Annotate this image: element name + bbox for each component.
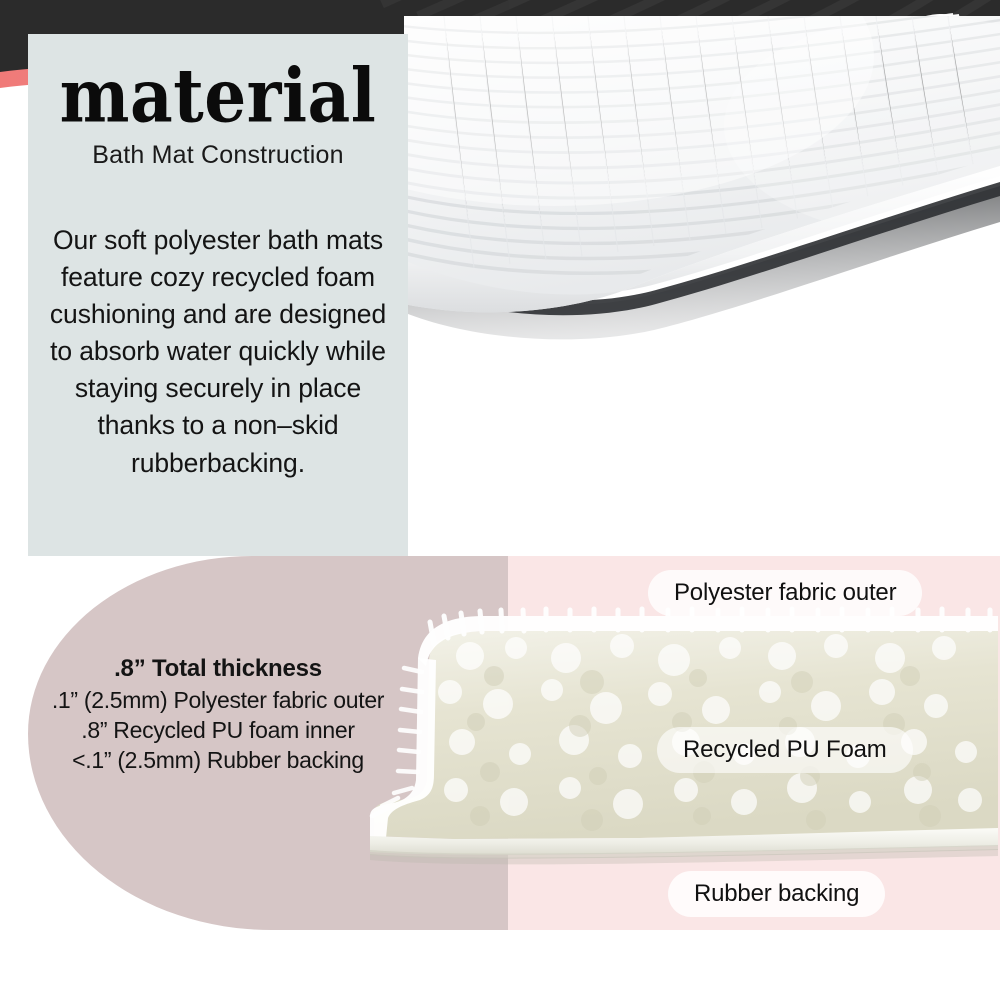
infographic-canvas: material Bath Mat Construction Our soft …: [0, 0, 1000, 1000]
spec-line-backing: <.1” (2.5mm) Rubber backing: [34, 746, 402, 776]
page-title: material: [28, 60, 408, 132]
title-block: material Bath Mat Construction: [28, 60, 408, 170]
callout-rubber-backing: Rubber backing: [668, 871, 885, 917]
thickness-specs: .8” Total thickness .1” (2.5mm) Polyeste…: [34, 655, 402, 776]
callout-recycled-pu-foam: Recycled PU Foam: [657, 727, 913, 773]
spec-line-outer: .1” (2.5mm) Polyester fabric outer: [34, 686, 402, 716]
callout-polyester-fabric-outer: Polyester fabric outer: [648, 570, 922, 616]
product-photo-bath-mat: [404, 16, 1000, 516]
page-subtitle: Bath Mat Construction: [28, 141, 408, 170]
intro-paragraph: Our soft polyester bath mats feature coz…: [36, 222, 400, 482]
spec-total-thickness: .8” Total thickness: [34, 655, 402, 683]
spec-line-inner: .8” Recycled PU foam inner: [34, 716, 402, 746]
